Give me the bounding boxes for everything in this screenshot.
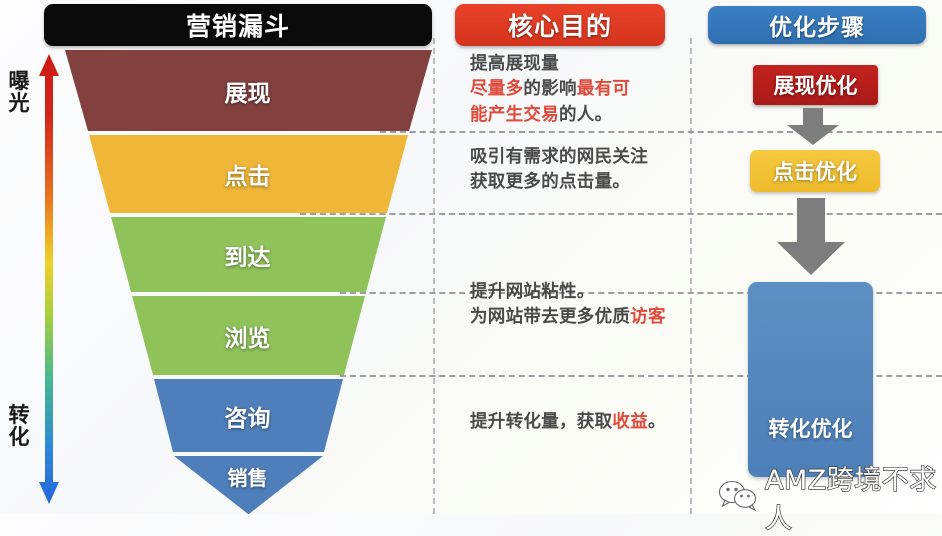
- step-box-click: 点击优化: [750, 150, 880, 192]
- step-box-conversion-label: 转化优化: [769, 413, 853, 443]
- step-box-exposure-label: 展现优化: [774, 70, 858, 100]
- goal-plain-run: 的人。: [559, 105, 612, 125]
- header-core-goal-label: 核心目的: [508, 7, 612, 43]
- goal-plain-run: 的影响: [523, 79, 576, 99]
- goal-text-2: 提升网站粘性。为网站带去更多优质访客: [470, 280, 666, 331]
- goal-plain-run: 提升网站粘性。: [470, 282, 595, 302]
- goal-highlight-run: 能产生交易: [470, 105, 559, 125]
- axis-label-conversion-char1: 转: [2, 404, 36, 426]
- axis-label-conversion-char2: 化: [2, 426, 36, 448]
- funnel-stage-2-label: 到达: [225, 238, 271, 272]
- funnel-stage-2: 到达: [60, 217, 435, 292]
- funnel-stage-3-label: 浏览: [225, 319, 271, 353]
- header-funnel: 营销漏斗: [44, 4, 432, 46]
- funnel-stage-4-label: 咨询: [225, 399, 271, 433]
- funnel-stage-0: 展现: [60, 50, 435, 131]
- watermark: AMZ跨境不求人: [718, 458, 942, 536]
- horizontal-divider-1: [380, 131, 942, 133]
- marketing-funnel: 展现 点击 到达 浏览 咨询 销售: [60, 48, 435, 514]
- diagram-canvas: 营销漏斗 核心目的 优化步骤 曝 光: [0, 0, 942, 514]
- goal-highlight-run: 最有可: [577, 79, 630, 99]
- funnel-stage-1: 点击: [60, 135, 435, 213]
- axis-label-exposure-char2: 光: [2, 92, 36, 114]
- vertical-divider-2: [690, 38, 692, 514]
- funnel-stage-0-label: 展现: [225, 74, 271, 108]
- goal-plain-run: 获取更多的点击量。: [470, 172, 630, 192]
- goal-1-line-1: 获取更多的点击量。: [470, 170, 648, 195]
- header-optimization-steps-label: 优化步骤: [769, 8, 865, 42]
- goal-highlight-run: 访客: [630, 307, 666, 327]
- goal-3-line-0: 提升转化量，获取收益。: [470, 410, 666, 435]
- axis-label-exposure: 曝 光: [2, 70, 36, 114]
- goal-plain-run: 。: [648, 412, 666, 432]
- step-box-click-label: 点击优化: [773, 156, 857, 186]
- goal-0-line-1: 尽量多的影响最有可: [470, 77, 630, 102]
- funnel-stage-3: 浏览: [60, 296, 435, 375]
- step-box-exposure: 展现优化: [753, 65, 878, 105]
- axis-label-conversion: 转 化: [2, 404, 36, 448]
- goal-2-line-1: 为网站带去更多优质访客: [470, 305, 666, 330]
- funnel-stage-1-label: 点击: [225, 157, 271, 191]
- goal-highlight-run: 收益: [612, 412, 648, 432]
- goal-plain-run: 为网站带去更多优质: [470, 307, 630, 327]
- exposure-conversion-arrow: [38, 54, 60, 504]
- goal-text-0: 提高展现量尽量多的影响最有可能产生交易的人。: [470, 52, 630, 128]
- goal-0-line-2: 能产生交易的人。: [470, 103, 630, 128]
- funnel-stage-5-label: 销售: [228, 462, 268, 491]
- goal-plain-run: 吸引有需求的网民关注: [470, 147, 648, 167]
- header-funnel-label: 营销漏斗: [186, 7, 290, 43]
- goal-1-line-0: 吸引有需求的网民关注: [470, 145, 648, 170]
- funnel-stage-5: 销售: [60, 456, 435, 496]
- goal-0-line-0: 提高展现量: [470, 52, 630, 77]
- goal-highlight-run: 尽量多: [470, 79, 523, 99]
- step-box-conversion: 转化优化: [748, 282, 873, 477]
- watermark-text: AMZ跨境不求人: [765, 458, 942, 536]
- goal-plain-run: 提高展现量: [470, 54, 559, 74]
- goal-2-line-0: 提升网站粘性。: [470, 280, 666, 305]
- down-arrow-1: [785, 108, 841, 150]
- header-core-goal: 核心目的: [455, 4, 665, 46]
- down-arrow-2: [775, 198, 847, 280]
- header-optimization-steps: 优化步骤: [708, 6, 926, 44]
- axis-label-exposure-char1: 曝: [2, 70, 36, 92]
- goal-plain-run: 提升转化量，获取: [470, 412, 612, 432]
- goal-text-1: 吸引有需求的网民关注获取更多的点击量。: [470, 145, 648, 196]
- wechat-icon: [718, 479, 758, 515]
- funnel-stage-4: 咨询: [60, 379, 435, 452]
- goal-text-3: 提升转化量，获取收益。: [470, 410, 666, 435]
